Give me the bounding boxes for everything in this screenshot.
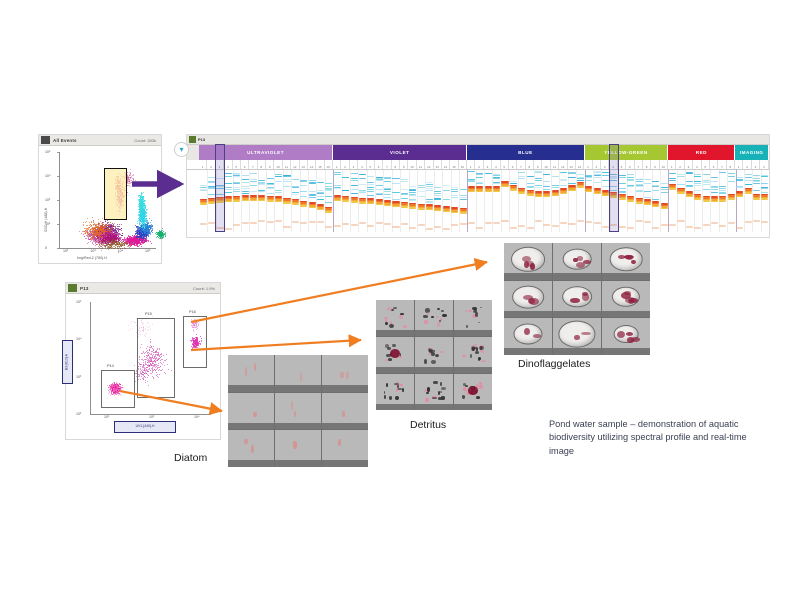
- scatter-point: [95, 232, 96, 233]
- scatter-point: [132, 243, 133, 244]
- scatter-point: [137, 246, 138, 247]
- scatter-point: [137, 223, 138, 224]
- scatter-point: [142, 207, 143, 208]
- scatter-point: [101, 230, 102, 231]
- scatter-point: [96, 241, 97, 242]
- all-events-gate-name: All Events: [53, 138, 77, 143]
- scatter-point: [143, 214, 144, 215]
- scatter-point: [141, 236, 142, 237]
- scatter-point: [125, 239, 126, 240]
- scatter-point: [160, 238, 161, 239]
- scatter-point: [115, 238, 116, 239]
- scatter-point: [152, 232, 153, 233]
- scatter-point: [139, 223, 140, 224]
- scatter-point: [119, 226, 120, 227]
- scatter-point: [114, 235, 115, 236]
- scatter-point: [98, 237, 99, 238]
- scatter-point: [141, 202, 142, 203]
- scatter-point: [117, 237, 118, 238]
- scatter-point: [147, 231, 148, 232]
- scatter-point: [142, 220, 143, 221]
- scatter-point: [130, 241, 131, 242]
- scatter-point: [143, 237, 144, 238]
- scatter-point: [161, 235, 162, 236]
- scatter-point: [102, 227, 103, 228]
- scatter-point: [146, 216, 147, 217]
- scatter-point: [133, 242, 134, 243]
- scatter-point: [90, 226, 91, 227]
- scatter-point: [148, 234, 149, 235]
- scatter-point: [114, 233, 115, 234]
- scatter-point: [151, 220, 152, 221]
- scatter-point: [86, 225, 87, 226]
- scatter-point: [146, 221, 147, 222]
- scatter-point: [148, 230, 149, 231]
- scatter-point: [100, 228, 101, 229]
- scatter-point: [121, 235, 122, 236]
- scatter-point: [165, 232, 166, 233]
- scatter-point: [131, 244, 132, 245]
- scatter-point: [103, 224, 104, 225]
- scatter-point: [140, 244, 141, 245]
- scatter-point: [108, 222, 109, 223]
- scatter-point: [142, 199, 143, 200]
- scatter-point: [142, 210, 143, 211]
- scatter-point: [156, 237, 157, 238]
- scatter-point: [136, 232, 137, 233]
- scatter-point: [88, 229, 89, 230]
- scatter-point: [145, 235, 146, 236]
- scatter-point: [138, 241, 139, 242]
- scatter-point: [146, 219, 147, 220]
- scatter-point: [98, 219, 99, 220]
- scatter-point: [141, 244, 142, 245]
- scatter-point: [100, 226, 101, 227]
- scatter-point: [145, 226, 146, 227]
- scatter-point: [148, 236, 149, 237]
- scatter-point: [145, 241, 146, 242]
- scatter-point: [136, 243, 137, 244]
- scatter-point: [110, 222, 111, 223]
- all-events-header: All Events Count: 283k: [39, 135, 161, 146]
- scatter-point: [139, 224, 140, 225]
- scatter-point: [140, 210, 141, 211]
- scatter-point: [83, 234, 84, 235]
- scatter-point: [110, 222, 111, 223]
- scatter-point: [144, 229, 145, 230]
- scatter-point: [144, 233, 145, 234]
- scatter-point: [90, 241, 91, 242]
- scatter-point: [105, 224, 106, 225]
- scatter-point: [144, 228, 145, 229]
- scatter-point: [141, 238, 142, 239]
- scatter-point: [129, 239, 130, 240]
- scatter-point: [146, 233, 147, 234]
- scatter-point: [151, 227, 152, 228]
- scatter-point: [141, 207, 142, 208]
- scatter-point: [107, 236, 108, 237]
- scatter-point: [150, 229, 151, 230]
- scatter-point: [138, 196, 139, 197]
- scatter-point: [83, 222, 84, 223]
- scatter-point: [140, 243, 141, 244]
- scatter-point: [112, 225, 113, 226]
- scatter-point: [116, 231, 117, 232]
- scatter-point: [142, 214, 143, 215]
- scatter-point: [125, 248, 126, 249]
- all-events-stat: Count: 283k: [134, 138, 159, 143]
- scatter-point: [147, 227, 148, 228]
- scatter-point: [97, 238, 98, 239]
- scatter-point: [93, 222, 94, 223]
- scatter-point: [114, 229, 115, 230]
- scatter-point: [122, 235, 123, 236]
- scatter-point: [106, 227, 107, 228]
- scatter-point: [146, 239, 147, 240]
- scatter-point: [92, 217, 93, 218]
- scatter-point: [103, 222, 104, 223]
- scatter-point: [90, 239, 91, 240]
- scatter-point: [112, 226, 113, 227]
- scatter-point: [98, 227, 99, 228]
- scatter-point: [140, 240, 141, 241]
- scatter-point: [141, 219, 142, 220]
- scatter-point: [142, 240, 143, 241]
- scatter-point: [105, 221, 106, 222]
- scatter-point: [107, 220, 108, 221]
- scatter-point: [130, 246, 131, 247]
- scatter-point: [163, 237, 164, 238]
- scatter-point: [146, 237, 147, 238]
- scatter-point: [143, 216, 144, 217]
- scatter-point: [146, 210, 147, 211]
- scatter-point: [121, 230, 122, 231]
- scatter-point: [142, 233, 143, 234]
- scatter-point: [93, 234, 94, 235]
- scatter-point: [139, 245, 140, 246]
- scatter-point: [139, 209, 140, 210]
- scatter-point: [150, 222, 151, 223]
- scatter-point: [106, 224, 107, 225]
- scatter-point: [147, 221, 148, 222]
- scatter-point: [131, 239, 132, 240]
- scatter-point: [97, 236, 98, 237]
- scatter-point: [157, 236, 158, 237]
- scatter-point: [144, 204, 145, 205]
- scatter-point: [150, 228, 151, 229]
- scatter-point: [137, 244, 138, 245]
- scatter-point: [142, 201, 143, 202]
- scatter-point: [93, 241, 94, 242]
- scatter-point: [121, 237, 122, 238]
- scatter-point: [144, 200, 145, 201]
- scatter-point: [128, 236, 129, 237]
- scatter-point: [148, 226, 149, 227]
- scatter-point: [118, 228, 119, 229]
- scatter-point: [165, 233, 166, 234]
- scatter-point: [113, 231, 114, 232]
- scatter-point: [140, 221, 141, 222]
- scatter-point: [98, 240, 99, 241]
- scatter-point: [102, 232, 103, 233]
- scatter-point: [119, 239, 120, 240]
- scatter-point: [145, 208, 146, 209]
- scatter-point: [135, 234, 136, 235]
- scatter-point: [165, 236, 166, 237]
- scatter-point: [83, 225, 84, 226]
- scatter-point: [142, 193, 143, 194]
- scatter-point: [88, 242, 89, 243]
- scatter-point: [146, 227, 147, 228]
- scatter-point: [142, 198, 143, 199]
- scatter-point: [87, 225, 88, 226]
- scatter-point: [82, 231, 83, 232]
- scatter-point: [145, 218, 146, 219]
- scatter-point: [145, 238, 146, 239]
- scatter-point: [91, 239, 92, 240]
- scatter-point: [88, 232, 89, 233]
- scatter-point: [141, 242, 142, 243]
- scatter-point: [144, 218, 145, 219]
- scatter-point: [138, 234, 139, 235]
- scatter-point: [139, 200, 140, 201]
- scatter-point: [90, 229, 91, 230]
- scatter-point: [138, 246, 139, 247]
- scatter-point: [94, 235, 95, 236]
- scatter-point: [137, 229, 138, 230]
- scatter-point: [85, 238, 86, 239]
- scatter-point: [146, 225, 147, 226]
- scatter-point: [143, 203, 144, 204]
- scatter-point: [162, 234, 163, 235]
- scatter-point: [102, 225, 103, 226]
- scatter-point: [143, 196, 144, 197]
- scatter-point: [117, 238, 118, 239]
- scatter-point: [133, 240, 134, 241]
- scatter-point: [150, 234, 151, 235]
- scatter-point: [127, 239, 128, 240]
- scatter-point: [150, 241, 151, 242]
- scatter-point: [140, 216, 141, 217]
- scatter-point: [96, 227, 97, 228]
- scatter-point: [121, 224, 122, 225]
- scatter-point: [145, 207, 146, 208]
- scatter-point: [79, 231, 80, 232]
- scatter-point: [144, 223, 145, 224]
- scatter-point: [143, 229, 144, 230]
- scatter-point: [89, 222, 90, 223]
- scatter-point: [140, 199, 141, 200]
- scatter-point: [94, 236, 95, 237]
- scatter-point: [149, 233, 150, 234]
- scatter-point: [92, 243, 93, 244]
- scatter-point: [111, 235, 112, 236]
- scatter-point: [85, 233, 86, 234]
- scatter-point: [141, 246, 142, 247]
- scatter-point: [143, 204, 144, 205]
- plot-frame: [59, 152, 156, 249]
- scatter-point: [86, 238, 87, 239]
- scatter-point: [94, 233, 95, 234]
- scatter-point: [93, 225, 94, 226]
- scatter-point: [131, 237, 132, 238]
- scatter-point: [164, 233, 165, 234]
- scatter-point: [141, 224, 142, 225]
- scatter-point: [120, 237, 121, 238]
- scatter-point: [144, 220, 145, 221]
- scatter-point: [163, 235, 164, 236]
- scatter-point: [141, 193, 142, 194]
- scatter-point: [91, 237, 92, 238]
- scatter-point: [140, 195, 141, 196]
- scatter-point: [84, 228, 85, 229]
- scatter-point: [145, 211, 146, 212]
- scatter-point: [102, 235, 103, 236]
- scatter-point: [144, 210, 145, 211]
- scatter-point: [137, 236, 138, 237]
- scatter-point: [102, 218, 103, 219]
- scatter-point: [133, 239, 134, 240]
- scatter-point: [116, 239, 117, 240]
- scatter-point: [103, 230, 104, 231]
- scatter-point: [95, 245, 96, 246]
- scatter-point: [95, 230, 96, 231]
- scatter-point: [87, 218, 88, 219]
- scatter-point: [83, 224, 84, 225]
- scatter-point: [87, 243, 88, 244]
- scatter-point: [113, 233, 114, 234]
- scatter-point: [146, 215, 147, 216]
- scatter-point: [89, 227, 90, 228]
- scatter-point: [106, 238, 107, 239]
- scatter-point: [92, 228, 93, 229]
- scatter-point: [137, 231, 138, 232]
- scatter-point: [109, 233, 110, 234]
- scatter-point: [92, 235, 93, 236]
- scatter-point: [88, 237, 89, 238]
- scatter-point: [150, 226, 151, 227]
- scatter-point: [137, 243, 138, 244]
- scatter-point: [146, 236, 147, 237]
- scatter-point: [146, 235, 147, 236]
- scatter-point: [140, 234, 141, 235]
- scatter-point: [86, 221, 87, 222]
- scatter-point: [142, 205, 143, 206]
- scatter-point: [131, 245, 132, 246]
- scatter-point: [104, 226, 105, 227]
- scatter-point: [148, 241, 149, 242]
- gate-color-swatch: [41, 136, 50, 144]
- scatter-point: [162, 228, 163, 229]
- all-events-plot-area[interactable]: 10⁵10⁴10³10²010²10³10⁴10⁵Img/Red-2 (780)…: [39, 146, 163, 264]
- scatter-point: [119, 234, 120, 235]
- scatter-point: [165, 235, 166, 236]
- scatter-point: [120, 229, 121, 230]
- scatter-point: [91, 225, 92, 226]
- scatter-point: [162, 238, 163, 239]
- scatter-point: [148, 223, 149, 224]
- scatter-point: [136, 241, 137, 242]
- scatter-point: [139, 207, 140, 208]
- scatter-point: [146, 241, 147, 242]
- scatter-point: [101, 236, 102, 237]
- scatter-point: [144, 214, 145, 215]
- scatter-point: [117, 224, 118, 225]
- scatter-point: [108, 235, 109, 236]
- scatter-point: [142, 223, 143, 224]
- scatter-point: [144, 231, 145, 232]
- scatter-point: [158, 237, 159, 238]
- scatter-point: [106, 225, 107, 226]
- scatter-point: [124, 237, 125, 238]
- scatter-point: [138, 237, 139, 238]
- scatter-point: [119, 224, 120, 225]
- scatter-point: [152, 226, 153, 227]
- scatter-point: [142, 227, 143, 228]
- scatter-point: [122, 233, 123, 234]
- scatter-point: [120, 238, 121, 239]
- scatter-point: [163, 236, 164, 237]
- scatter-point: [159, 234, 160, 235]
- scatter-point: [86, 235, 87, 236]
- scatter-point: [142, 242, 143, 243]
- scatter-point: [142, 209, 143, 210]
- scatter-point: [161, 232, 162, 233]
- scatter-point: [151, 243, 152, 244]
- scatter-point: [104, 227, 105, 228]
- scatter-point: [145, 200, 146, 201]
- all-events-scatter-panel[interactable]: All Events Count: 283k 10⁵10⁴10³10²010²1…: [38, 134, 162, 264]
- scatter-point: [140, 205, 141, 206]
- scatter-point: [132, 235, 133, 236]
- scatter-point: [137, 227, 138, 228]
- scatter-point: [145, 240, 146, 241]
- scatter-point: [142, 218, 143, 219]
- scatter-point: [106, 234, 107, 235]
- scatter-point: [105, 220, 106, 221]
- scatter-point: [93, 237, 94, 238]
- scatter-point: [163, 231, 164, 232]
- scatter-point: [116, 239, 117, 240]
- scatter-point: [91, 222, 92, 223]
- scatter-point: [114, 223, 115, 224]
- scatter-point: [145, 213, 146, 214]
- scatter-point: [135, 225, 136, 226]
- scatter-point: [148, 222, 149, 223]
- scatter-point: [98, 223, 99, 224]
- scatter-point: [140, 225, 141, 226]
- scatter-point: [137, 221, 138, 222]
- scatter-point: [93, 238, 94, 239]
- scatter-point: [134, 245, 135, 246]
- scatter-point: [151, 231, 152, 232]
- scatter-point: [134, 236, 135, 237]
- scatter-point: [109, 225, 110, 226]
- scatter-point: [143, 192, 144, 193]
- scatter-point: [100, 231, 101, 232]
- scatter-point: [85, 222, 86, 223]
- scatter-point: [113, 226, 114, 227]
- scatter-point: [149, 218, 150, 219]
- scatter-point: [138, 226, 139, 227]
- scatter-point: [148, 240, 149, 241]
- scatter-point: [144, 212, 145, 213]
